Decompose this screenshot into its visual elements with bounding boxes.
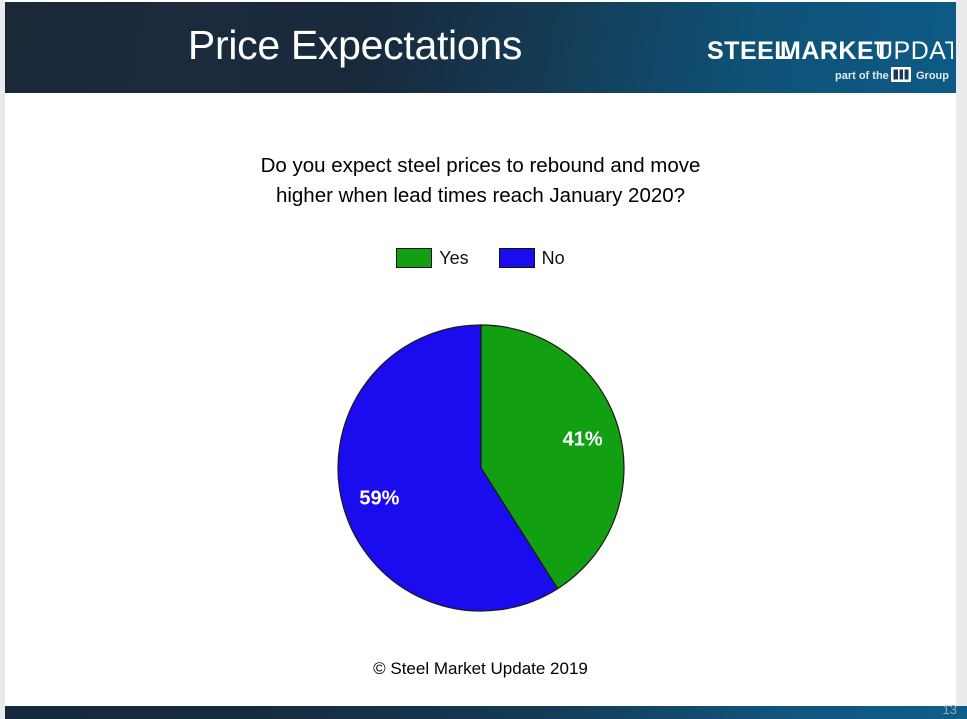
- cru-badge-inner: [894, 70, 909, 80]
- legend-swatch-yes: [396, 248, 432, 268]
- copyright-text: © Steel Market Update 2019: [5, 659, 956, 679]
- steel-market-update-logo: STEEL MARKET UPDATE part of the Group: [695, 6, 953, 90]
- pie-slice-value-yes: 41%: [562, 429, 602, 451]
- logo-word-update: UPDATE: [875, 37, 953, 65]
- page-title: Price Expectations: [5, 22, 705, 69]
- logo-tagline-pre: part of the: [835, 70, 889, 82]
- logo-word-market: MARKET: [780, 37, 890, 65]
- legend-label-no: No: [542, 248, 565, 268]
- chart-title: Do you expect steel prices to rebound an…: [5, 151, 956, 211]
- cru-badge-bar-1: [898, 70, 900, 80]
- cru-badge-bar-2: [903, 70, 905, 80]
- pie-slice-value-no: 59%: [359, 488, 399, 510]
- slide-content-area: Do you expect steel prices to rebound an…: [5, 93, 956, 706]
- chart-title-line-1: Do you expect steel prices to rebound an…: [5, 151, 956, 181]
- pie-chart-container: 41%59%: [5, 318, 956, 628]
- chart-title-line-2: higher when lead times reach January 202…: [5, 181, 956, 211]
- logo-tagline-post: Group: [916, 70, 949, 82]
- slide-footer-bar: [5, 706, 967, 719]
- slide-header-bar: Price Expectations STEEL MARKET: [5, 2, 956, 93]
- logo-svg: STEEL MARKET UPDATE part of the Group: [695, 6, 953, 90]
- chart-legend: Yes No: [5, 248, 956, 268]
- logo-word-steel: STEEL: [707, 37, 790, 65]
- legend-label-yes: Yes: [439, 248, 468, 268]
- legend-item-no[interactable]: No: [499, 248, 565, 268]
- page-frame-right-edge: [956, 0, 967, 719]
- slide-canvas: Price Expectations STEEL MARKET: [0, 0, 967, 719]
- pie-chart: 41%59%: [331, 318, 631, 618]
- legend-item-yes[interactable]: Yes: [396, 248, 468, 268]
- page-number: 13: [943, 702, 957, 717]
- pie-slices-group: [337, 325, 623, 611]
- legend-swatch-no: [499, 248, 535, 268]
